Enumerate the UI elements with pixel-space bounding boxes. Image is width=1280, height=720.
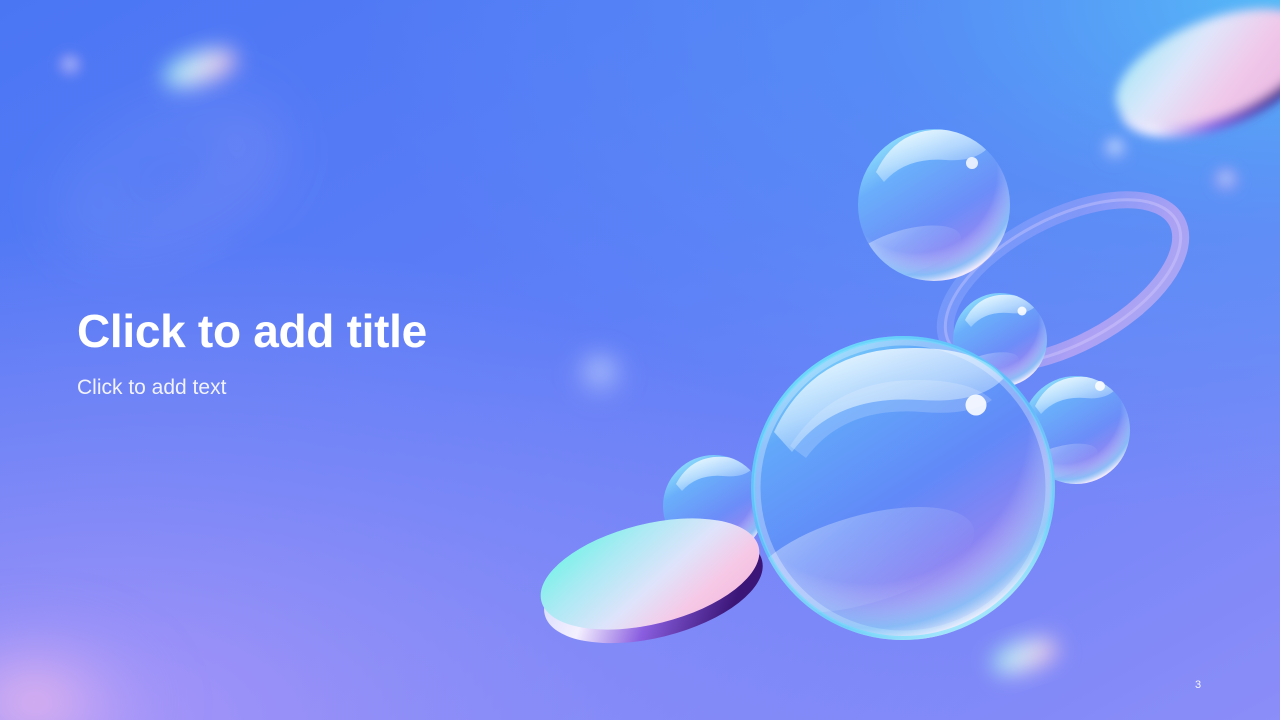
body-text-placeholder[interactable]: Click to add text bbox=[77, 374, 637, 401]
upper-bubble-specular-dot bbox=[966, 157, 978, 169]
main-bubble-specular-dot bbox=[966, 395, 987, 416]
right-bubble-specular-dot bbox=[1095, 381, 1105, 391]
orb-top-left bbox=[55, 52, 85, 82]
mid-bubble-specular-dot bbox=[1018, 307, 1027, 316]
slide-background-art bbox=[0, 0, 1280, 720]
orb-right-mid bbox=[1209, 165, 1243, 199]
slide-canvas: Click to add title Click to add text 3 bbox=[0, 0, 1280, 720]
orb-right-upper bbox=[1098, 134, 1132, 168]
title-placeholder[interactable]: Click to add title bbox=[77, 305, 637, 358]
page-number: 3 bbox=[1186, 679, 1210, 691]
